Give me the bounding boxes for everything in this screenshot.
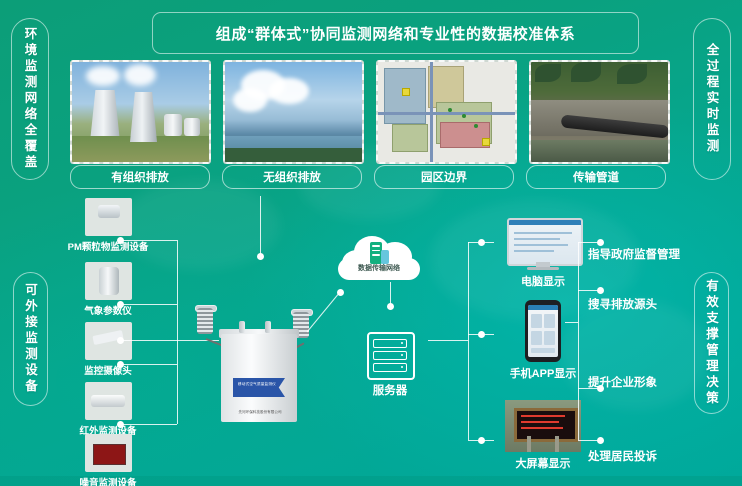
server-label: 服务器 bbox=[355, 382, 425, 398]
infographic-canvas: 环境监测网络全覆盖 全过程实时监测 可外接监测设备 有效支撑管理决策 组成“群体… bbox=[0, 0, 742, 486]
server-unit bbox=[373, 363, 407, 372]
cloud-label: 数据传输网络 bbox=[336, 263, 422, 273]
device-item-pm-sensor: PM颗粒物监测设备 bbox=[48, 198, 168, 253]
scenario-caption-pipeline: 传输管道 bbox=[526, 165, 666, 189]
device-label: 噪音监测设备 bbox=[48, 475, 168, 486]
side-label-text: 可外接监测设备 bbox=[21, 283, 40, 395]
benefit-handle-complaints: 处理居民投诉 bbox=[588, 448, 657, 464]
scenario-photo-fugitive-plume bbox=[223, 60, 364, 164]
scenario-caption-row: 有组织排放 无组织排放 园区边界 传输管道 bbox=[70, 165, 670, 189]
connector-node bbox=[478, 239, 485, 246]
connector-node bbox=[597, 239, 604, 246]
connector-line bbox=[120, 364, 177, 365]
scenario-photo-transfer-pipeline bbox=[529, 60, 670, 164]
output-label: 大屏幕显示 bbox=[498, 455, 588, 471]
connector-line-scenarios-to-station bbox=[260, 196, 261, 256]
scenario-caption-park-boundary: 园区边界 bbox=[374, 165, 514, 189]
station-sensor-left bbox=[197, 308, 213, 334]
connector-node bbox=[117, 361, 124, 368]
server-unit bbox=[373, 339, 407, 348]
connector-node bbox=[478, 437, 485, 444]
page-title: 组成“群体式”协同监测网络和专业性的数据校准体系 bbox=[216, 23, 575, 44]
connector-bus-vertical bbox=[177, 240, 178, 424]
output-label: 手机APP显示 bbox=[498, 365, 588, 381]
smartphone-app-icon bbox=[525, 300, 561, 362]
output-label: 电脑显示 bbox=[498, 273, 588, 289]
weather-sensor-icon bbox=[85, 262, 132, 300]
scenario-photo-cooling-towers bbox=[70, 60, 211, 164]
connector-node bbox=[337, 289, 344, 296]
connector-node bbox=[387, 303, 394, 310]
output-item-mobile-app: 手机APP显示 bbox=[498, 300, 588, 381]
connector-node bbox=[257, 253, 264, 260]
station-band-line1: 移动式空气质量监测仪 bbox=[233, 378, 285, 387]
micro-monitoring-station: 移动式空气质量监测仪 先河环保科技股份有限公司 bbox=[215, 320, 303, 424]
station-knob bbox=[239, 321, 245, 333]
station-knob bbox=[265, 321, 271, 333]
benefit-gov-supervision: 指导政府监督管理 bbox=[588, 246, 680, 262]
connector-bus-outputs bbox=[468, 242, 469, 440]
device-label: PM颗粒物监测设备 bbox=[48, 239, 168, 253]
station-footer-text: 先河环保科技股份有限公司 bbox=[235, 410, 285, 415]
connector-node bbox=[117, 421, 124, 428]
station-brand-band: 移动式空气质量监测仪 bbox=[233, 378, 285, 397]
desktop-monitor-icon bbox=[507, 218, 579, 270]
side-label-text: 有效支撑管理决策 bbox=[702, 279, 721, 407]
device-item-camera: 监控摄像头 bbox=[48, 322, 168, 377]
pm-sensor-icon bbox=[85, 198, 132, 236]
connector-bus-benefits bbox=[578, 242, 579, 440]
device-label: 监控摄像头 bbox=[48, 363, 168, 377]
led-billboard-icon bbox=[505, 400, 581, 452]
connector-line bbox=[120, 240, 177, 241]
data-transmission-cloud: 数据传输网络 bbox=[336, 232, 422, 284]
connector-node bbox=[478, 331, 485, 338]
connector-node bbox=[117, 237, 124, 244]
server-unit bbox=[373, 351, 407, 360]
device-item-noise: 噪音监测设备 bbox=[48, 434, 168, 486]
infrared-device-icon bbox=[85, 382, 132, 420]
connector-node bbox=[117, 301, 124, 308]
side-label-text: 环境监测网络全覆盖 bbox=[21, 27, 40, 171]
output-item-led-billboard: 大屏幕显示 bbox=[498, 400, 588, 471]
connector-node bbox=[597, 437, 604, 444]
surveillance-camera-icon bbox=[85, 322, 132, 360]
output-item-desktop: 电脑显示 bbox=[498, 218, 588, 289]
device-item-infrared: 红外监测设备 bbox=[48, 382, 168, 437]
scenario-caption-organized-emission: 有组织排放 bbox=[70, 165, 210, 189]
connector-node bbox=[597, 287, 604, 294]
station-cabinet: 移动式空气质量监测仪 先河环保科技股份有限公司 bbox=[221, 334, 297, 422]
benefit-brand-image: 提升企业形象 bbox=[588, 374, 657, 390]
connector-node bbox=[117, 337, 124, 344]
scenario-photo-park-boundary-map bbox=[376, 60, 517, 164]
side-label-text: 全过程实时监测 bbox=[703, 43, 722, 155]
header-banner: 组成“群体式”协同监测网络和专业性的数据校准体系 bbox=[152, 12, 639, 54]
side-label-external-devices: 可外接监测设备 bbox=[13, 272, 48, 406]
connector-line-server-to-outputs bbox=[428, 340, 468, 341]
side-label-decision-support: 有效支撑管理决策 bbox=[694, 272, 729, 414]
device-item-weather-sensor: 气象参数仪 bbox=[48, 262, 168, 317]
side-label-realtime-monitoring: 全过程实时监测 bbox=[693, 18, 731, 180]
benefit-find-source: 搜寻排放源头 bbox=[588, 296, 657, 312]
scenario-caption-fugitive-emission: 无组织排放 bbox=[222, 165, 362, 189]
cloud-server-icon-secondary bbox=[381, 250, 389, 264]
device-label: 气象参数仪 bbox=[48, 303, 168, 317]
side-label-environment-coverage: 环境监测网络全覆盖 bbox=[11, 18, 49, 180]
connector-line bbox=[120, 424, 177, 425]
connector-line-outputs-to-benefits bbox=[565, 322, 578, 323]
noise-monitor-icon bbox=[85, 434, 132, 472]
server-icon: 服务器 bbox=[367, 332, 413, 378]
connector-line bbox=[120, 304, 177, 305]
connector-line bbox=[120, 340, 177, 341]
